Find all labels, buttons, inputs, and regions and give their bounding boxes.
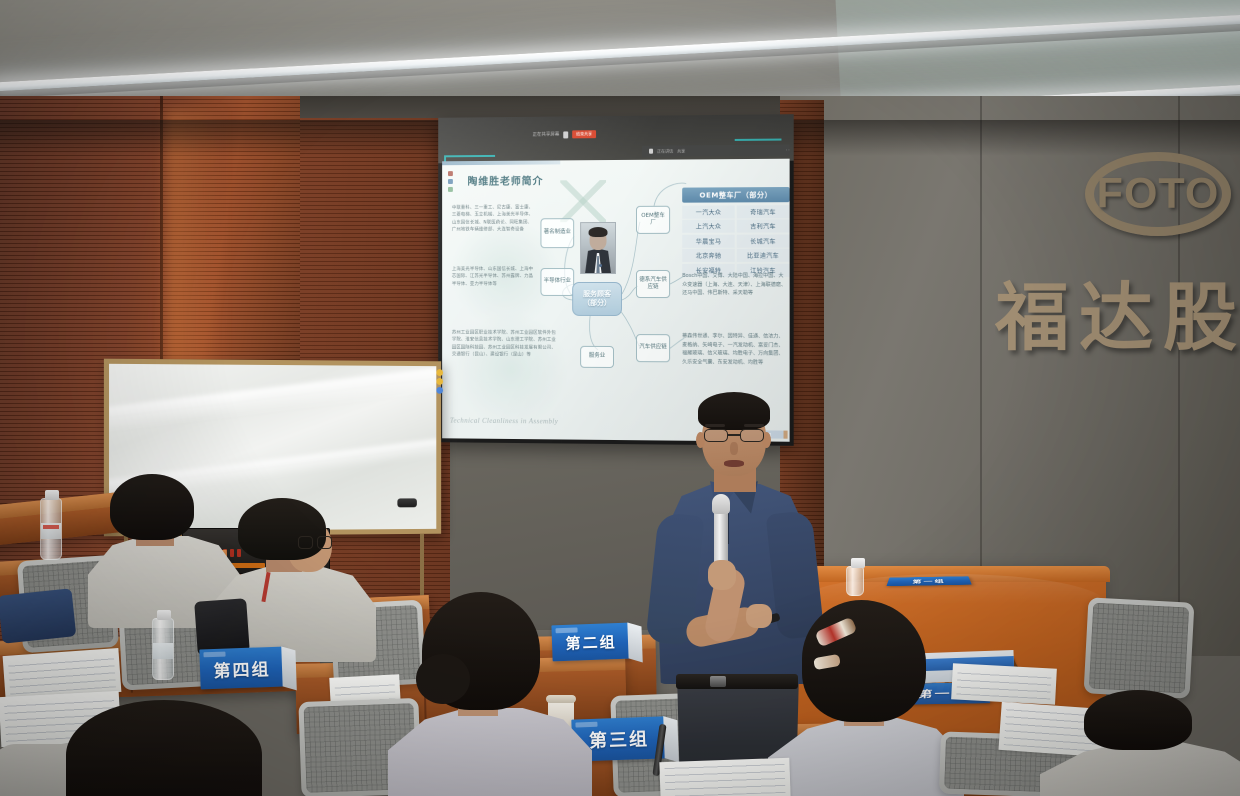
slide-title: 陶维胜老师简介 [468,172,544,187]
presenter-eyebrow-right [744,424,764,427]
slide-top-accent-bar [442,160,560,165]
node-auto-supply-chain: 汽车供应链 [636,334,670,362]
tent-card-side [663,716,679,762]
auto-supply-chain-text: 蒂森伟世通、李尔、因特异、佳通、信浓力、麦格纳、矢崎电子、一汽发动机、富妥门杰、… [682,332,787,367]
screen-share-title: 正在共享屏幕 [533,132,560,138]
magnet-icon[interactable] [436,378,443,385]
magnet-icon[interactable] [436,369,443,376]
branch-text-semiconductor: 上海美光半导体、山东国信长城、上海中芯国际、江苏光半导体、苏州露牌、力晶半导体、… [452,266,535,288]
oem-cell: 奇瑞汽车 [736,205,789,218]
microphone-icon[interactable] [649,149,653,154]
attendee-far-right [1040,690,1240,796]
presenter-nose [730,442,738,455]
window-controls[interactable]: · · [786,148,790,153]
tent-card-group-1: 第一组 [886,576,971,586]
oem-cell: 北京奔驰 [682,249,735,262]
screen-accent-teal-right [735,139,782,141]
node-semiconductor: 半导体行业 [540,268,574,296]
node-service-industry: 服务业 [580,346,614,368]
water-bottle[interactable] [40,498,62,560]
bottle-cap [851,558,865,568]
slide-bullet-dots [448,171,453,195]
hair-bun [416,654,470,704]
presenter-belt-buckle [710,676,726,687]
water-bottle[interactable] [846,566,864,596]
german-supply-chain-text: Bosch中国、艾博、大陆中国、海拉中国、大众变速器（上海、大连、天津）、上海联… [682,272,787,298]
oem-cell: 华晨宝马 [682,234,735,247]
oem-table: OEM整车厂（部分） 一汽大众 奇瑞汽车 上汽大众 吉利汽车 华晨宝马 长城汽车… [682,187,789,276]
attendee-back-left [92,474,232,614]
eyeglasses-icon [298,536,332,549]
node-manufacturing: 著名制造业 [540,218,574,248]
tent-card-tab [203,652,225,658]
bottle-label-accent [43,525,59,529]
dot-red-icon [448,171,453,176]
oem-cell: 上汽大众 [682,220,735,233]
microphone-head [712,494,730,514]
presenter-belt [676,674,798,689]
whiteboard-glare-1 [109,364,436,435]
instructor-portrait-photo [580,222,616,274]
stop-share-button[interactable]: 结束共享 [572,130,596,138]
attendee-hair [1084,690,1192,750]
whiteboard-leg-right [420,534,424,600]
presenter-right-hand [708,560,736,590]
glasses-bridge [728,434,740,436]
attendee-torso [388,708,592,796]
foto-logo-text: FOTO [1085,170,1231,219]
portrait-lapel-badge [599,264,602,267]
presenter-eyebrow-left [705,424,725,427]
tent-card-label: 第一组 [912,578,946,585]
oem-cell: 一汽大众 [682,205,735,218]
branch-text-manufacturing: 中联重科、三一重工、尼古康、富士康、三菱电梯、玉立机械、上海美光半导体、山东国信… [452,204,535,233]
oem-table-header: OEM整车厂（部分） [682,187,789,203]
attendee-hair [238,498,326,560]
attendee-hair [110,474,194,540]
node-oem-vehicle-plant: OEM整车厂 [636,206,670,234]
bottle-label [153,643,173,659]
bottle-cap [157,610,171,620]
tent-card-label: 第四组 [213,655,271,682]
slide-watermark [560,180,606,222]
presentation-status-bar[interactable]: 正在讲话 共享 · · [642,145,790,157]
blue-bag[interactable] [0,588,76,643]
eyeglasses-icon [704,429,764,442]
attendee-front-center [398,592,588,796]
meeting-room-photo: FOTO 福达股 正在共享屏幕 结束共享 正在讲话 共享 · · [0,0,1240,796]
whiteboard-eraser[interactable] [397,498,416,507]
share-label: 共享 [677,148,685,154]
bottle-cap [45,490,59,500]
right-wall-seam-1 [980,96,982,636]
lens-left [704,429,728,442]
handout-lines [8,653,116,694]
presenter-left-hand [746,604,772,628]
speaking-label: 正在讲话 [657,148,673,154]
dot-green-icon [448,187,453,192]
chair[interactable] [1084,597,1195,698]
screen-accent-teal-left-h [444,155,495,157]
presenter-mouth [724,460,744,467]
branch-text-service: 苏州工业园区职业技术学院、苏州工业园区软件外包学院、淮安信息技术学院、山东理工学… [452,329,560,358]
company-name-chinese: 福达股 [995,258,1240,365]
handout[interactable] [659,758,790,796]
screen-share-toolbar[interactable]: 正在共享屏幕 结束共享 [533,130,597,139]
magnet-icon[interactable] [436,387,443,394]
center-node-line1: 服务顾客 [583,290,611,299]
tent-card-group-4: 第四组 [199,647,284,690]
dot-blue-icon [448,179,453,184]
portrait-hair [589,227,608,237]
water-bottle[interactable] [152,618,174,680]
handout-lines [665,763,786,796]
center-node-line2: （部分） [583,299,611,308]
tent-card-side [281,646,297,690]
slide-footer-text: Technical Cleanliness in Assembly [450,417,558,426]
node-center-served-customers: 服务顾客 （部分） [572,282,622,316]
slide-decor-blob-2 [452,310,570,430]
oem-cell: 比亚迪汽车 [736,249,789,262]
attendee-torso [1040,742,1240,796]
lens-right [740,429,764,442]
attendee-bottom-left-head [56,700,286,796]
oem-cell: 吉利汽车 [736,219,789,232]
attendee-torso [768,718,964,796]
foto-logo: FOTO [1085,152,1231,236]
attendee-hair [66,700,262,796]
tent-card-label: 第三组 [589,725,650,753]
chair-mesh-back [1089,603,1189,694]
share-icon[interactable] [563,131,568,138]
oem-cell: 长城汽车 [736,234,789,247]
handout-lines [956,669,1051,700]
tent-card-side [627,622,642,662]
node-german-auto-supply-chain: 德系汽车供应链 [636,270,670,298]
oem-table-grid: 一汽大众 奇瑞汽车 上汽大众 吉利汽车 华晨宝马 长城汽车 北京奔驰 比亚迪汽车… [682,205,789,277]
